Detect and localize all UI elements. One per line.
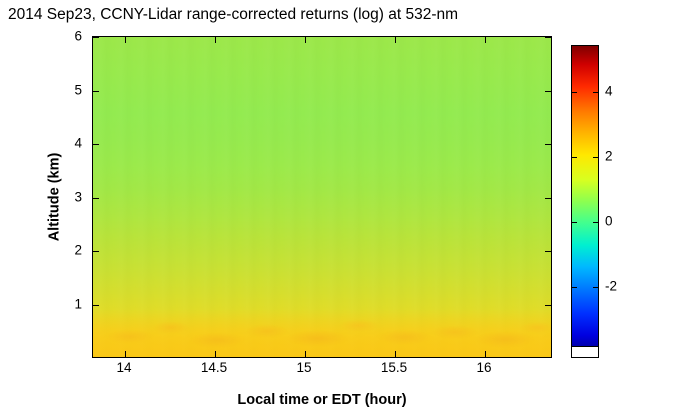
y-axis-title: Altitude (km) [46,153,62,242]
x-tick [305,351,306,357]
x-tick [215,351,216,357]
colorbar-tick-right [593,92,598,93]
heatmap-image [92,36,552,358]
colorbar-tick-right [593,287,598,288]
colorbar-under-range-swatch [571,346,599,358]
y-tick-right [545,198,551,199]
x-tick [485,351,486,357]
colorbar-tick-label: -2 [605,279,617,294]
x-tick-label: 15 [296,360,311,375]
page-title: 2014 Sep23, CCNY-Lidar range-corrected r… [8,6,458,24]
heatmap-aerosol-blobs [93,315,551,350]
colorbar-tick [572,157,577,158]
y-tick-right [545,37,551,38]
x-tick-label: 15.5 [381,360,407,375]
colorbar-tick [572,222,577,223]
plot-area: 14 14.5 15 15.5 16 1 2 3 4 5 6 [92,36,552,358]
colorbar-tick [572,287,577,288]
x-tick-label: 16 [476,360,491,375]
x-tick-top [125,37,126,43]
x-tick-top [215,37,216,43]
colorbar [571,45,599,358]
x-tick [125,351,126,357]
y-tick-right [545,91,551,92]
y-tick-right [545,144,551,145]
colorbar-tick-label: 2 [605,149,613,164]
x-tick-top [395,37,396,43]
colorbar-tick [572,92,577,93]
x-tick-top [305,37,306,43]
x-tick-label: 14 [116,360,131,375]
y-tick-right [545,251,551,252]
y-axis-title-wrap: Altitude (km) [10,36,99,358]
colorbar-tick-label: 4 [605,84,613,99]
x-tick [395,351,396,357]
colorbar-tick-right [593,157,598,158]
colorbar-tick-label: 0 [605,214,613,229]
x-tick-label: 14.5 [201,360,227,375]
colorbar-tick-right [593,222,598,223]
y-tick-right [545,305,551,306]
x-axis-title: Local time or EDT (hour) [92,392,552,408]
x-tick-top [485,37,486,43]
